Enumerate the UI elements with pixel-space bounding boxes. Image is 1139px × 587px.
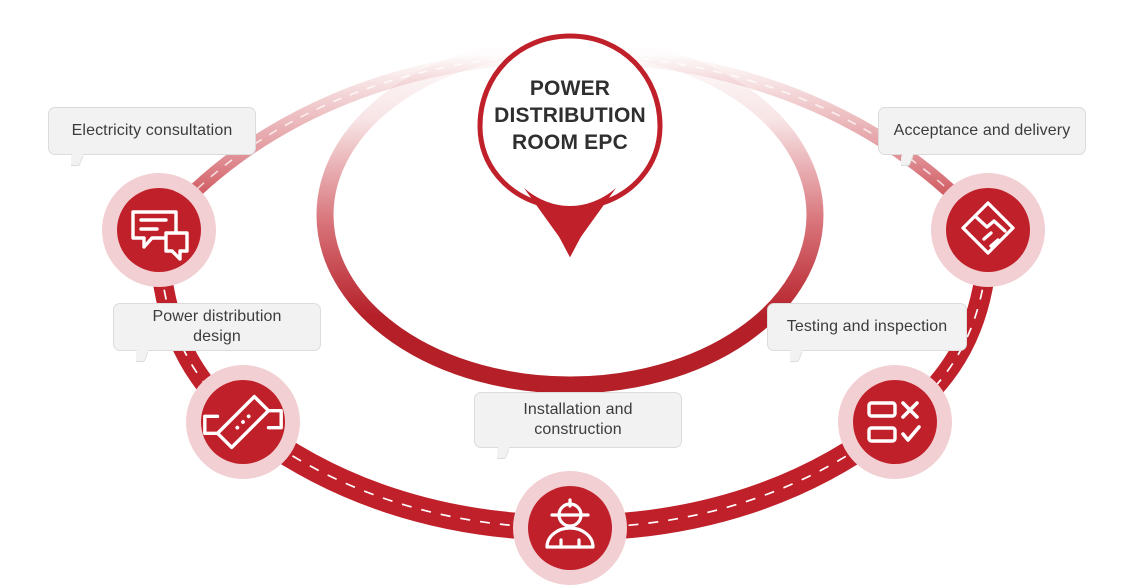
label-electricity-consultation[interactable]: Electricity consultation [48, 107, 256, 155]
label-text: Acceptance and delivery [894, 121, 1071, 141]
node-electricity-consultation[interactable] [102, 173, 216, 287]
label-text: Electricity consultation [72, 121, 233, 141]
node-installation-construction[interactable] [513, 471, 627, 585]
label-power-distribution-design[interactable]: Power distribution design [113, 303, 321, 351]
node-acceptance-delivery[interactable] [931, 173, 1045, 287]
node-disc [117, 188, 201, 272]
label-text: Installation and construction [523, 400, 632, 440]
page-title: POWER DISTRIBUTION ROOM EPC [475, 75, 665, 156]
infographic-canvas: POWER DISTRIBUTION ROOM EPC Electricity … [0, 0, 1139, 587]
node-testing-inspection[interactable] [838, 365, 952, 479]
label-acceptance-delivery[interactable]: Acceptance and delivery [878, 107, 1086, 155]
node-disc [853, 380, 937, 464]
node-disc [946, 188, 1030, 272]
label-installation-construction[interactable]: Installation and construction [474, 392, 682, 448]
label-text: Testing and inspection [787, 317, 948, 337]
label-text: Power distribution design [128, 307, 306, 347]
node-power-distribution-design[interactable] [186, 365, 300, 479]
label-testing-inspection[interactable]: Testing and inspection [767, 303, 967, 351]
